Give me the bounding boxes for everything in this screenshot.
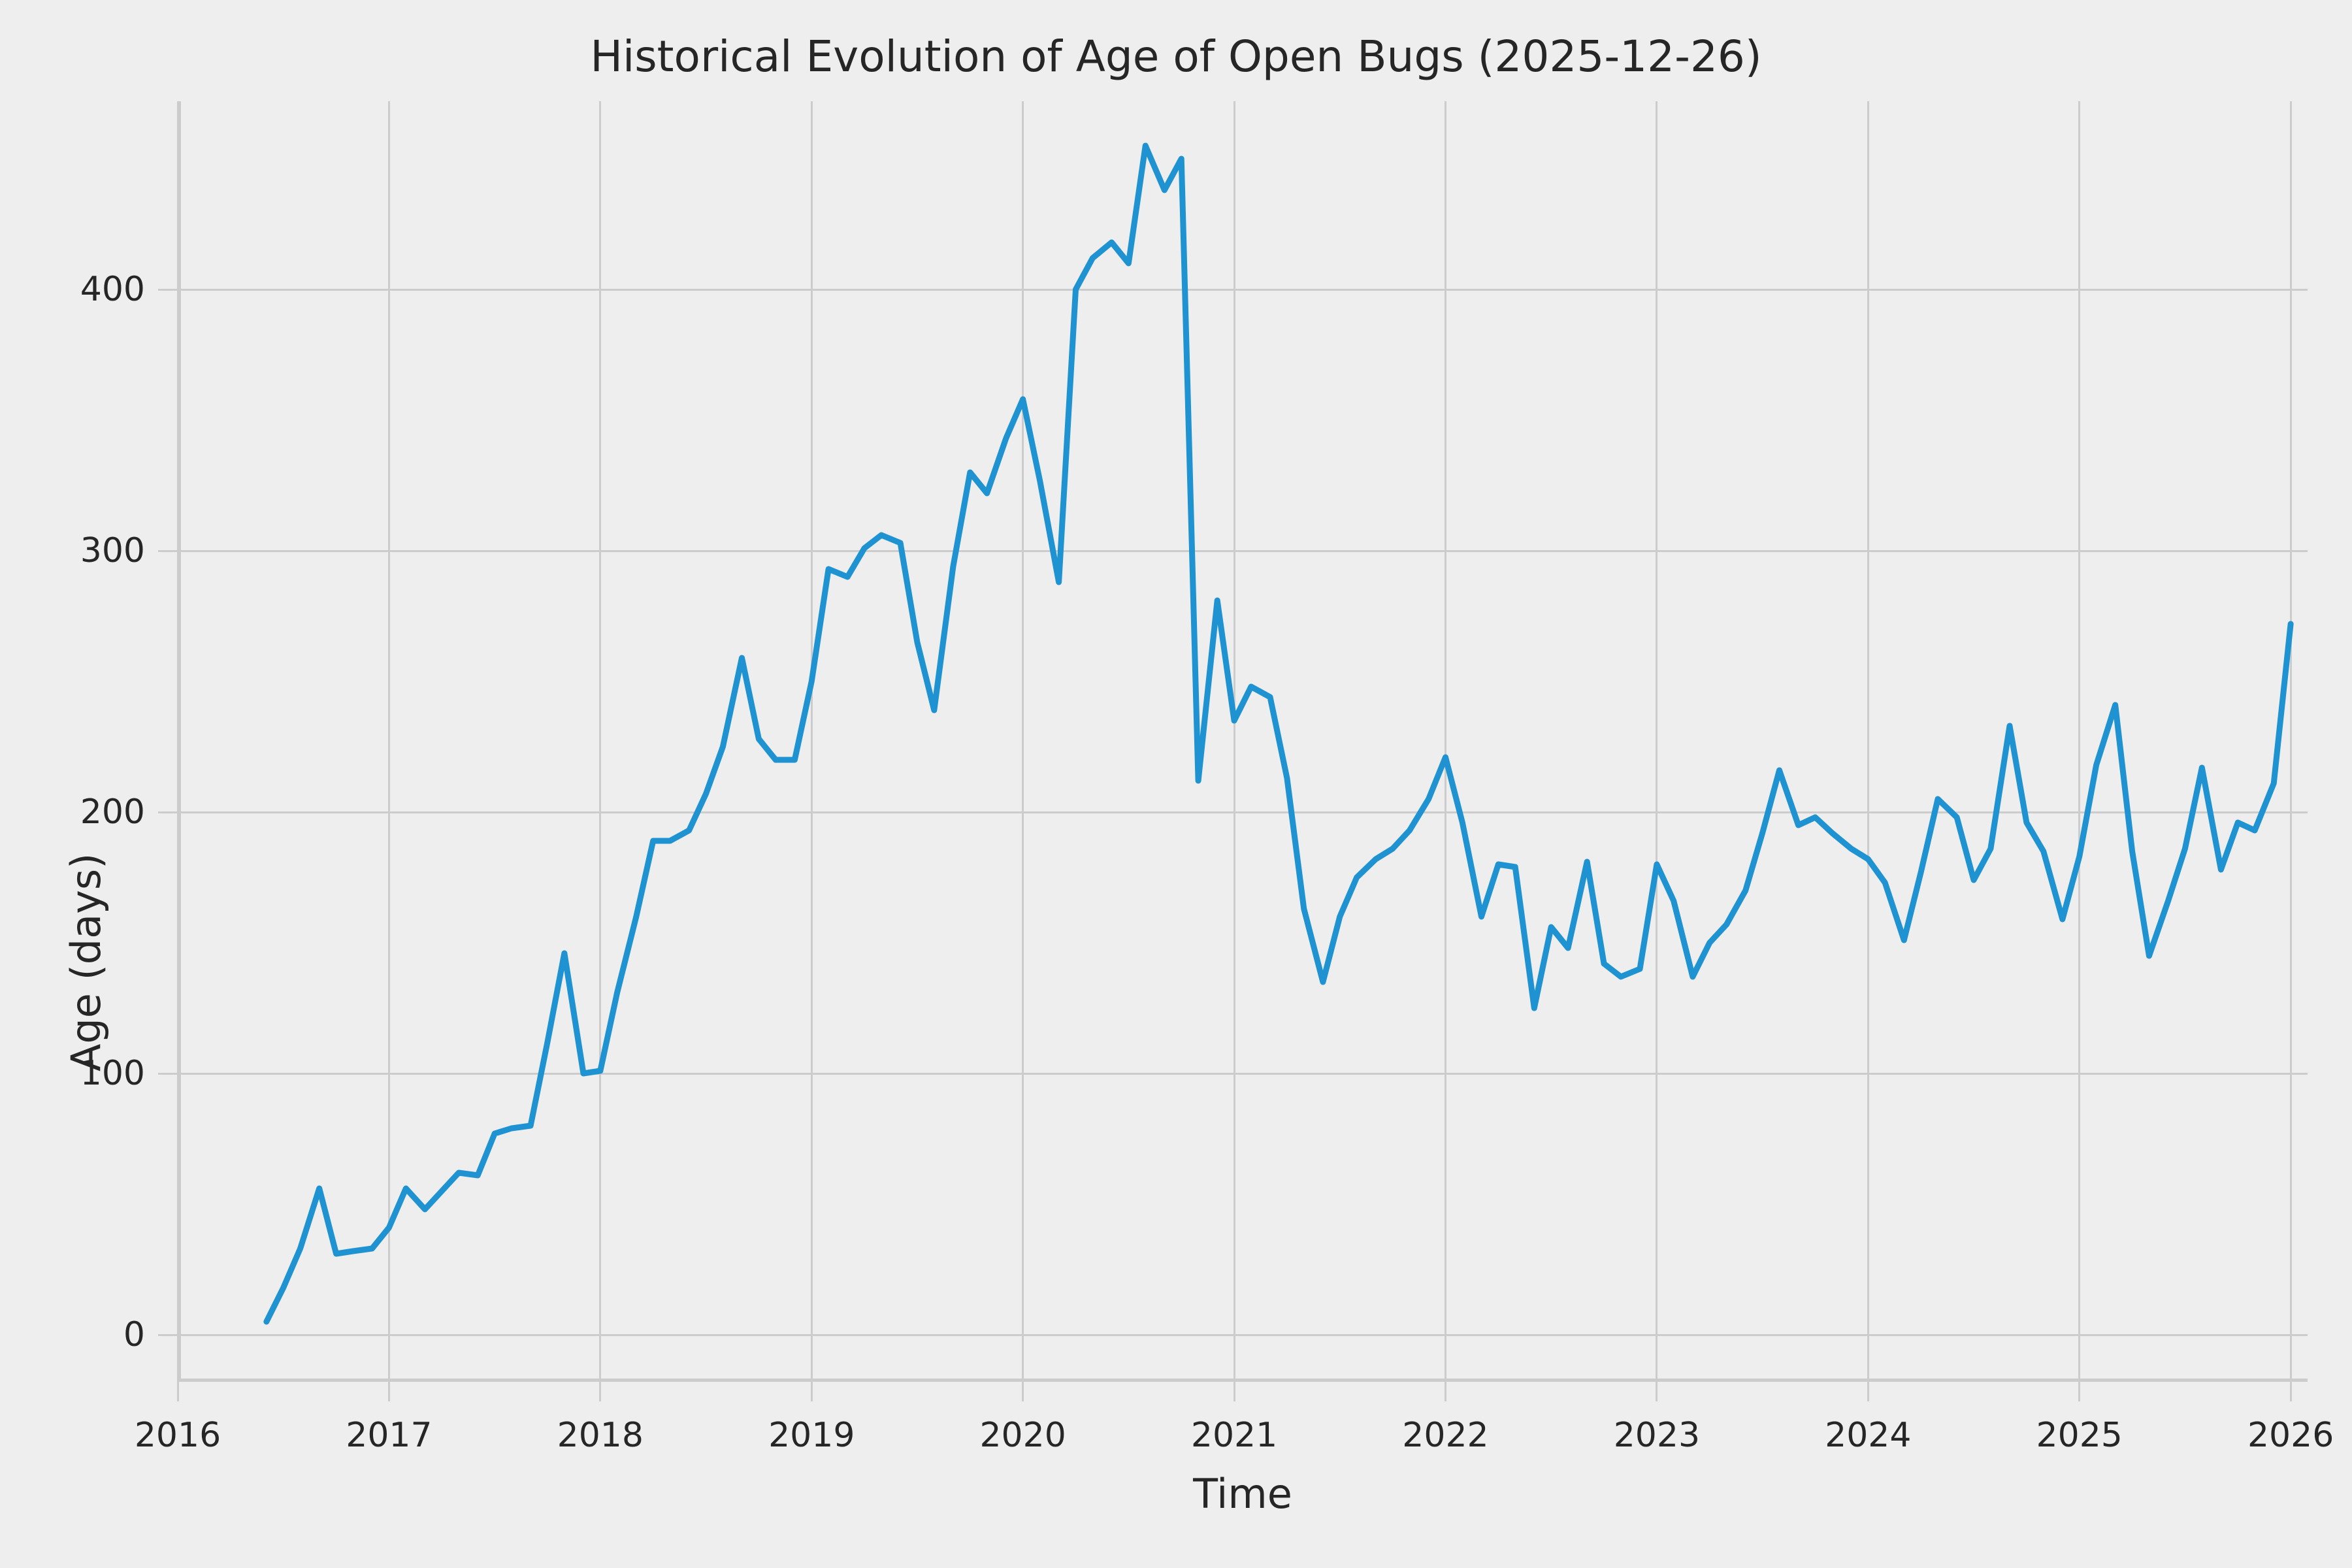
x-tick-label-2021: 2021	[1191, 1416, 1277, 1455]
x-tick-mark	[1233, 1382, 1235, 1401]
y-tick-label-300: 300	[41, 531, 145, 570]
x-axis-label: Time	[178, 1470, 2308, 1518]
x-tick-label-2017: 2017	[346, 1416, 432, 1455]
line-series-age-of-open-bugs	[267, 146, 2291, 1322]
x-tick-mark	[2290, 1382, 2292, 1401]
y-tick-label-400: 400	[41, 270, 145, 309]
x-tick-mark	[1867, 1382, 1869, 1401]
x-tick-label-2022: 2022	[1402, 1416, 1488, 1455]
x-tick-mark	[1445, 1382, 1446, 1401]
x-tick-label-2018: 2018	[557, 1416, 644, 1455]
x-tick-label-2016: 2016	[135, 1416, 221, 1455]
x-tick-mark	[2078, 1382, 2080, 1401]
y-tick-mark	[158, 1334, 178, 1336]
line-series-svg	[178, 101, 2308, 1382]
y-tick-mark	[158, 811, 178, 813]
x-tick-mark	[811, 1382, 813, 1401]
y-tick-mark	[158, 550, 178, 552]
x-tick-mark	[599, 1382, 601, 1401]
x-tick-mark	[1656, 1382, 1658, 1401]
x-tick-label-2026: 2026	[2247, 1416, 2334, 1455]
x-tick-mark	[177, 1382, 179, 1401]
x-tick-label-2023: 2023	[1614, 1416, 1700, 1455]
x-tick-label-2024: 2024	[1825, 1416, 1911, 1455]
plot-area	[178, 101, 2308, 1382]
y-tick-mark	[158, 1073, 178, 1075]
x-tick-label-2025: 2025	[2036, 1416, 2123, 1455]
page-title: Historical Evolution of Age of Open Bugs…	[0, 31, 2352, 82]
x-tick-mark	[388, 1382, 390, 1401]
y-axis-label: Age (days)	[62, 853, 110, 1071]
x-tick-label-2020: 2020	[979, 1416, 1066, 1455]
x-tick-label-2019: 2019	[768, 1416, 855, 1455]
y-tick-label-0: 0	[41, 1315, 145, 1354]
figure-canvas: Historical Evolution of Age of Open Bugs…	[0, 0, 2352, 1568]
y-tick-label-200: 200	[41, 792, 145, 832]
y-tick-mark	[158, 289, 178, 291]
x-tick-mark	[1022, 1382, 1024, 1401]
